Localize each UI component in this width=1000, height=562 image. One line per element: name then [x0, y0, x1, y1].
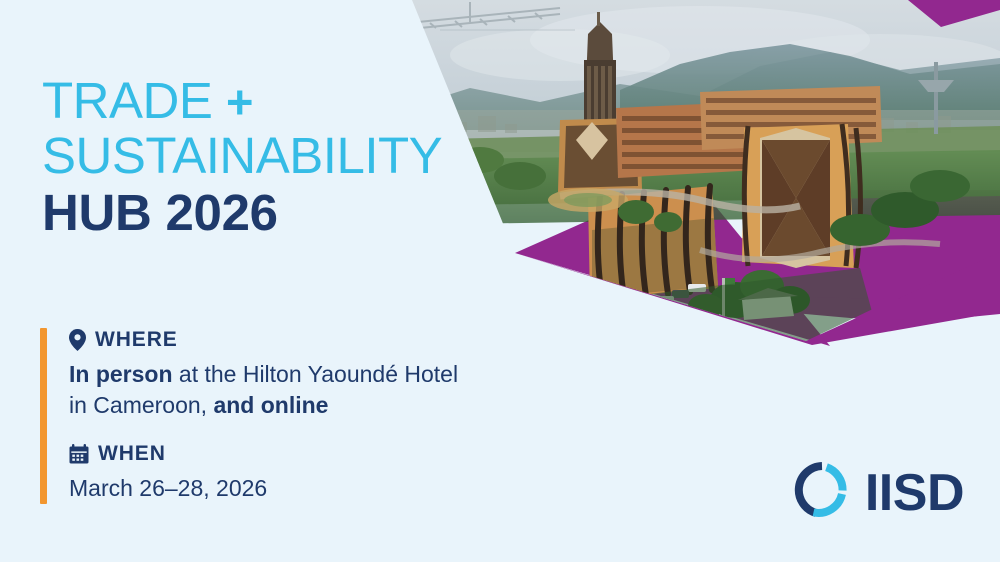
- where-value-line1: In person at the Hilton Yaoundé Hotel: [69, 359, 458, 390]
- where-value-plain-2: in Cameroon,: [69, 392, 213, 418]
- calendar-icon: [69, 444, 89, 464]
- title-sustainability: SUSTAINABILITY: [42, 129, 442, 182]
- where-label: WHERE: [95, 328, 178, 352]
- iisd-wordmark: IISD: [865, 467, 964, 519]
- event-details: WHERE In person at the Hilton Yaoundé Ho…: [40, 328, 458, 504]
- where-value-bold-2: and online: [213, 392, 328, 418]
- when-group: WHEN March 26–28, 2026: [69, 442, 458, 504]
- iisd-circle-mark-icon: [793, 461, 851, 524]
- where-value-plain-1: at the Hilton Yaoundé Hotel: [173, 361, 459, 387]
- title-trade: TRADE: [42, 72, 212, 129]
- title-hub-2026: HUB 2026: [42, 186, 442, 239]
- orange-accent-bar: [40, 328, 47, 504]
- where-value-line2: in Cameroon, and online: [69, 390, 458, 421]
- page-title: TRADE + SUSTAINABILITY HUB 2026: [42, 74, 442, 239]
- where-heading: WHERE: [69, 328, 458, 352]
- title-plus: +: [226, 75, 253, 128]
- iisd-logo[interactable]: IISD: [793, 461, 964, 524]
- title-line-trade: TRADE +: [42, 74, 442, 127]
- when-value: March 26–28, 2026: [69, 473, 458, 504]
- when-heading: WHEN: [69, 442, 458, 466]
- poster-canvas: TRADE + SUSTAINABILITY HUB 2026 WHERE: [0, 0, 1000, 562]
- where-value-bold-1: In person: [69, 361, 173, 387]
- map-pin-icon: [69, 329, 86, 351]
- when-label: WHEN: [98, 442, 166, 466]
- where-group: WHERE In person at the Hilton Yaoundé Ho…: [69, 328, 458, 422]
